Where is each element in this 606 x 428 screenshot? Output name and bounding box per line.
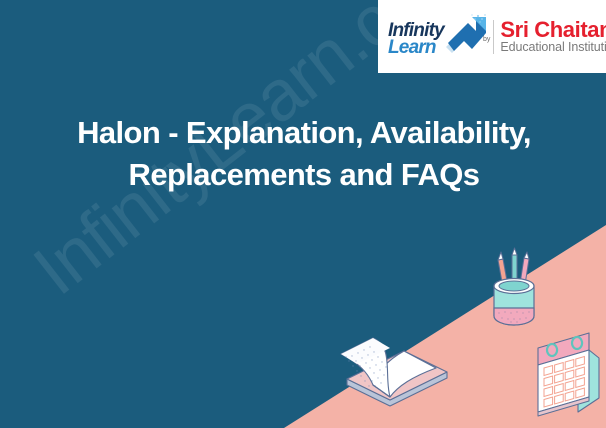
infinity-learn-logo[interactable]: Infinity Learn [386, 11, 482, 63]
desk-calendar-icon [538, 333, 599, 416]
arrow-swoosh-icon [442, 13, 488, 61]
logo-divider [493, 20, 494, 54]
pencil-cup-icon [494, 248, 534, 325]
brand-logo-container[interactable]: Infinity Learn by Sri Chaitanya Educatio… [378, 0, 606, 73]
sri-chaitanya-logo[interactable]: Sri Chaitanya Educational Institutions [500, 18, 606, 55]
promo-banner: InfinityLearn.com [0, 0, 606, 428]
page-title: Halon - Explanation, Availability, Repla… [26, 112, 582, 196]
sri-chaitanya-tagline: Educational Institutions [500, 41, 606, 55]
infinity-learn-wordmark-line2: Learn [388, 38, 436, 57]
open-book-icon [341, 338, 447, 406]
sri-chaitanya-name: Sri Chaitanya [500, 18, 606, 41]
